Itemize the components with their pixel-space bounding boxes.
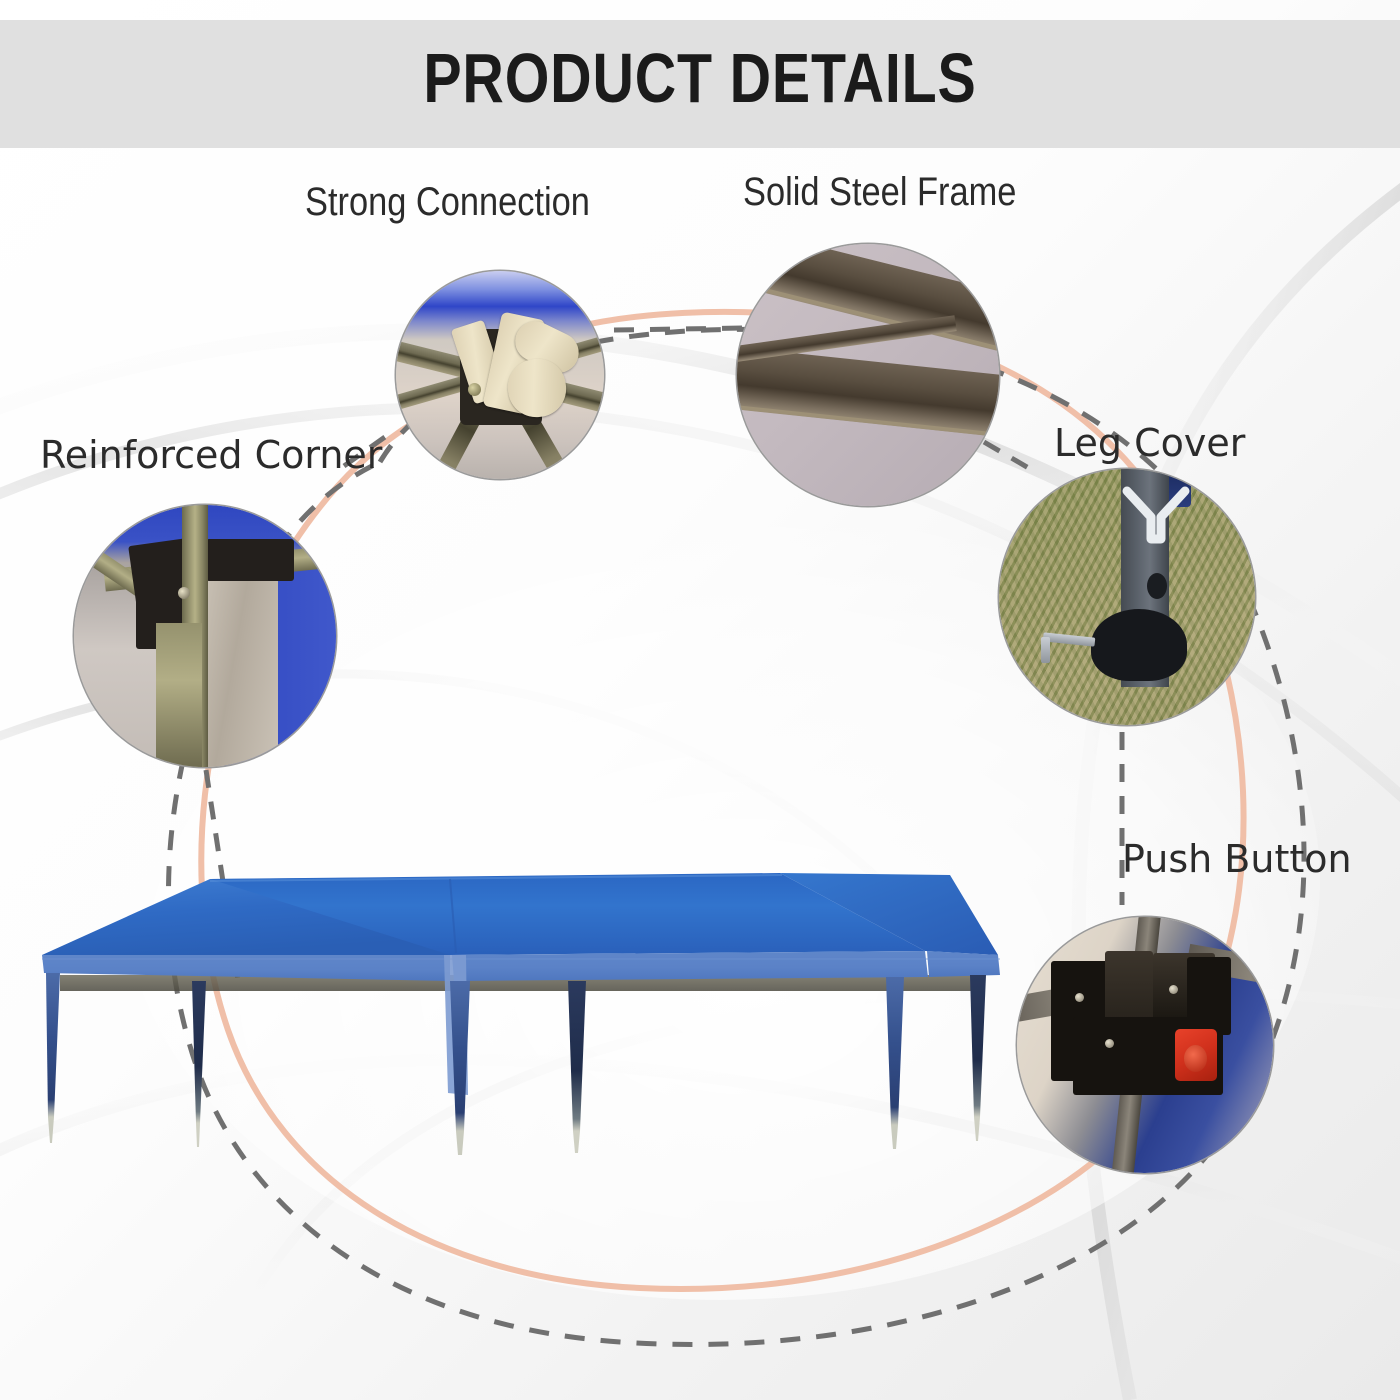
photo-solid-steel-frame — [737, 244, 999, 506]
detail-circle-reinforced-corner — [74, 505, 336, 767]
detail-circle-solid-steel-frame — [737, 244, 999, 506]
detail-circle-push-button — [1017, 917, 1273, 1173]
photo-push-button — [1017, 917, 1273, 1173]
label-solid-steel-frame: Solid Steel Frame — [743, 170, 1016, 215]
connector-spur-connection-to-steel — [614, 328, 745, 330]
product-canopy-image — [20, 855, 1020, 1325]
label-strong-connection: Strong Connection — [305, 180, 590, 225]
photo-leg-cover — [999, 469, 1255, 725]
product-details-infographic: PRODUCT DETAILS Strong Conne — [0, 0, 1400, 1400]
photo-strong-connection — [396, 271, 604, 479]
label-leg-cover: Leg Cover — [1054, 421, 1245, 465]
label-reinforced-corner: Reinforced Corner — [40, 433, 382, 477]
page-title: PRODUCT DETAILS — [126, 38, 1274, 118]
detail-circle-leg-cover — [999, 469, 1255, 725]
connector-spur-steel-to-leg — [984, 442, 1032, 470]
label-push-button: Push Button — [1122, 837, 1352, 881]
y-clip-icon — [1121, 485, 1191, 545]
photo-reinforced-corner — [74, 505, 336, 767]
detail-circle-strong-connection — [396, 271, 604, 479]
